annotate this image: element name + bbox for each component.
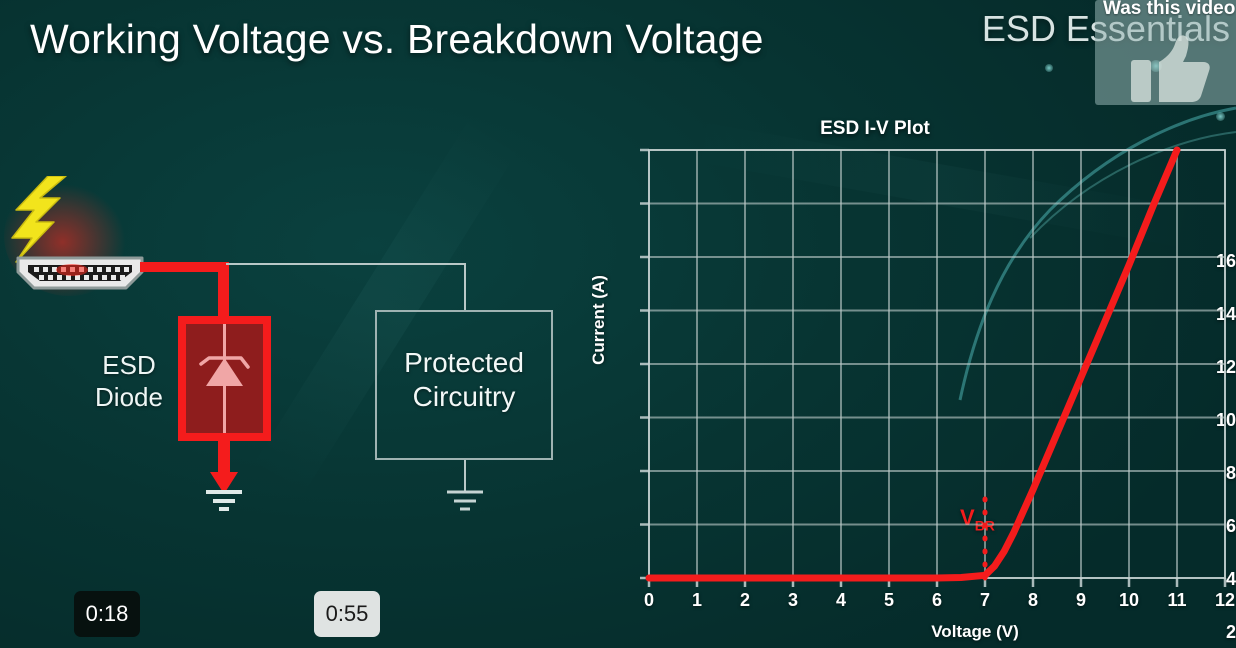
grid-lines bbox=[649, 150, 1225, 578]
video-survey-overlay[interactable]: Was this video helpful? bbox=[1095, 0, 1236, 105]
protected-label-line2: Circuitry bbox=[413, 381, 516, 412]
zener-diode-icon bbox=[186, 324, 263, 433]
esd-diode-label: ESD Diode bbox=[86, 350, 172, 413]
video-frame: Working Voltage vs. Breakdown Voltage ES… bbox=[0, 0, 1236, 648]
thumbs-up-icon[interactable] bbox=[1131, 34, 1213, 105]
survey-prompt: Was this video helpful? bbox=[1103, 0, 1236, 20]
plot-area bbox=[575, 110, 1236, 648]
esd-diode-component bbox=[178, 316, 271, 441]
esd-iv-plot: ESD I-V Plot Current (A) Voltage (V) 16 … bbox=[575, 110, 1236, 648]
current-time-badge[interactable]: 0:18 bbox=[74, 591, 140, 637]
branch-wire-vertical bbox=[464, 263, 466, 311]
page-title: Working Voltage vs. Breakdown Voltage bbox=[30, 16, 764, 63]
ground-icon bbox=[200, 488, 248, 514]
hdmi-connector-icon bbox=[14, 254, 146, 294]
background-glow bbox=[1045, 64, 1053, 72]
total-time-badge[interactable]: 0:55 bbox=[314, 591, 380, 637]
tick-marks bbox=[640, 150, 1225, 587]
protected-label-line1: Protected bbox=[404, 347, 524, 378]
esd-protection-circuit-diagram: ESD Diode Protected Circuitry bbox=[0, 170, 580, 550]
branch-wire-horizontal bbox=[226, 263, 466, 265]
ground-icon bbox=[441, 488, 489, 514]
signal-trace-horizontal bbox=[140, 262, 226, 272]
protected-circuitry-label: Protected Circuitry bbox=[375, 346, 553, 414]
esd-diode-label-line2: Diode bbox=[95, 382, 163, 412]
signal-trace-vertical bbox=[218, 262, 229, 320]
esd-diode-label-line1: ESD bbox=[102, 350, 155, 380]
